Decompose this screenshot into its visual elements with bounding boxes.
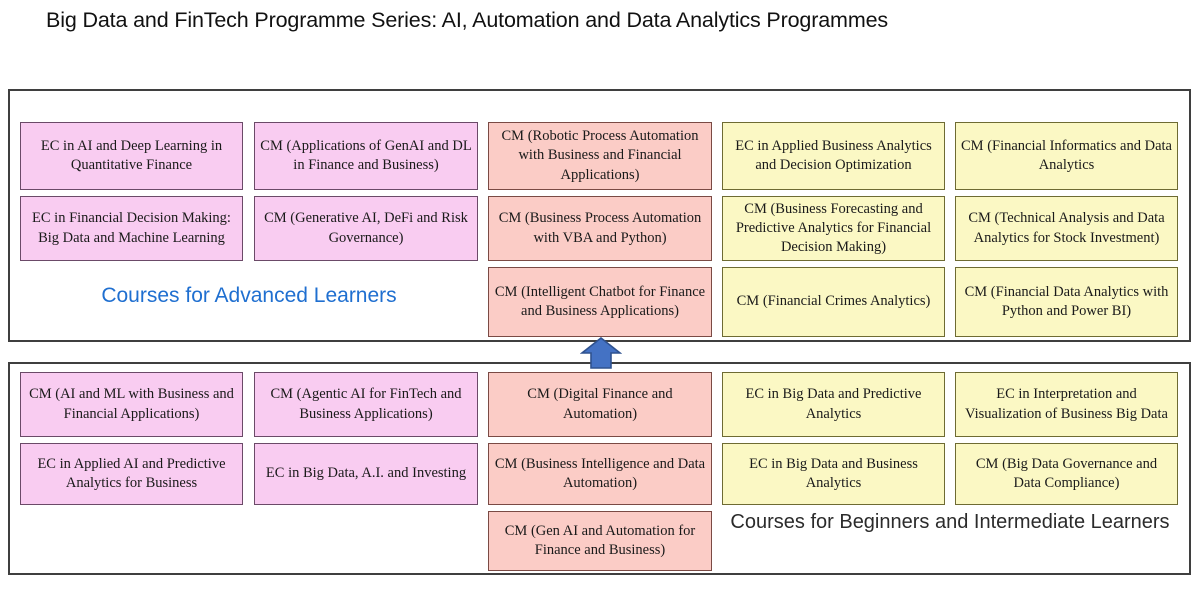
course-cell[interactable]: EC in Big Data, A.I. and Investing <box>254 443 478 505</box>
course-cell[interactable]: CM (Business Intelligence and Data Autom… <box>488 443 712 505</box>
course-cell[interactable]: CM (Financial Informatics and Data Analy… <box>955 122 1178 190</box>
progression-arrow-icon <box>580 337 622 369</box>
page-title: Big Data and FinTech Programme Series: A… <box>46 8 888 33</box>
course-cell[interactable]: EC in Big Data and Predictive Analytics <box>722 372 945 437</box>
course-cell[interactable]: EC in Interpretation and Visualization o… <box>955 372 1178 437</box>
course-cell[interactable]: CM (Generative AI, DeFi and Risk Governa… <box>254 196 478 261</box>
course-cell[interactable]: CM (AI and ML with Business and Financia… <box>20 372 243 437</box>
course-cell[interactable]: CM (Business Forecasting and Predictive … <box>722 196 945 261</box>
advanced-learners-label: Courses for Advanced Learners <box>20 283 478 309</box>
course-cell[interactable]: CM (Agentic AI for FinTech and Business … <box>254 372 478 437</box>
course-cell[interactable]: CM (Technical Analysis and Data Analytic… <box>955 196 1178 261</box>
course-cell[interactable]: CM (Financial Crimes Analytics) <box>722 267 945 337</box>
course-cell[interactable]: EC in Applied AI and Predictive Analytic… <box>20 443 243 505</box>
course-cell[interactable]: CM (Intelligent Chatbot for Finance and … <box>488 267 712 337</box>
course-cell[interactable]: CM (Gen AI and Automation for Finance an… <box>488 511 712 571</box>
course-cell[interactable]: CM (Business Process Automation with VBA… <box>488 196 712 261</box>
beginner-intermediate-label: Courses for Beginners and Intermediate L… <box>722 510 1178 534</box>
course-cell[interactable]: EC in Applied Business Analytics and Dec… <box>722 122 945 190</box>
course-cell[interactable]: CM (Digital Finance and Automation) <box>488 372 712 437</box>
course-cell[interactable]: EC in Financial Decision Making: Big Dat… <box>20 196 243 261</box>
course-cell[interactable]: EC in Big Data and Business Analytics <box>722 443 945 505</box>
course-cell[interactable]: CM (Robotic Process Automation with Busi… <box>488 122 712 190</box>
course-cell[interactable]: CM (Big Data Governance and Data Complia… <box>955 443 1178 505</box>
course-cell[interactable]: CM (Applications of GenAI and DL in Fina… <box>254 122 478 190</box>
course-cell[interactable]: CM (Financial Data Analytics with Python… <box>955 267 1178 337</box>
course-cell[interactable]: EC in AI and Deep Learning in Quantitati… <box>20 122 243 190</box>
